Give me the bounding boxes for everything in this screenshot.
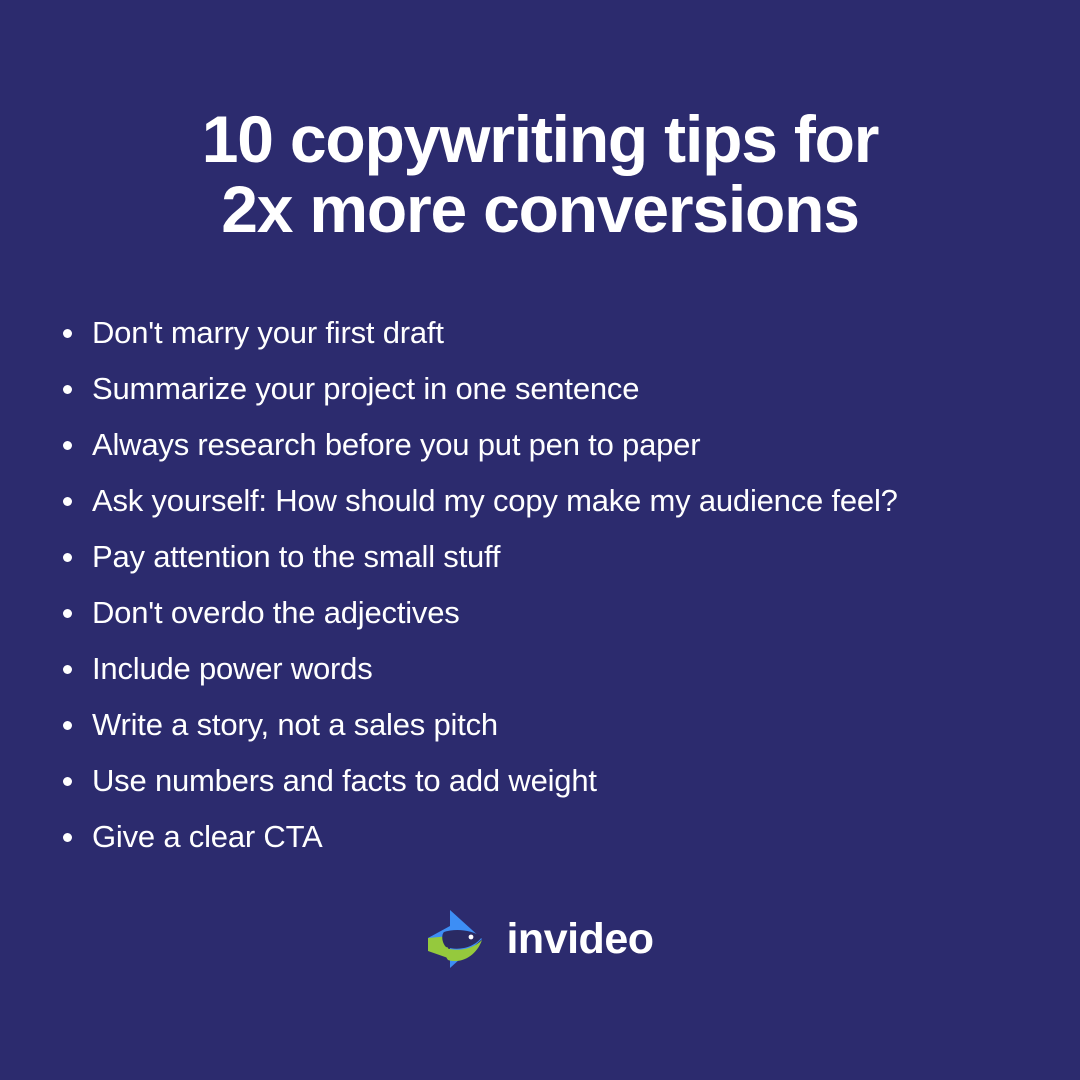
list-item: Always research before you put pen to pa… xyxy=(58,417,1040,473)
list-item: Summarize your project in one sentence xyxy=(58,361,1040,417)
poster-canvas: 10 copywriting tips for 2x more conversi… xyxy=(0,0,1080,1080)
bullet-dot-icon xyxy=(63,833,72,842)
list-item: Use numbers and facts to add weight xyxy=(58,753,1040,809)
tip-text: Don't marry your first draft xyxy=(92,315,444,351)
list-item: Pay attention to the small stuff xyxy=(58,529,1040,585)
bullet-dot-icon xyxy=(63,441,72,450)
tip-text: Always research before you put pen to pa… xyxy=(92,427,700,463)
tips-list: Don't marry your first draft Summarize y… xyxy=(58,305,1040,865)
list-item: Don't overdo the adjectives xyxy=(58,585,1040,641)
list-item: Give a clear CTA xyxy=(58,809,1040,865)
bullet-dot-icon xyxy=(63,665,72,674)
list-item: Ask yourself: How should my copy make my… xyxy=(58,473,1040,529)
page-title: 10 copywriting tips for 2x more conversi… xyxy=(0,104,1080,244)
tip-text: Use numbers and facts to add weight xyxy=(92,763,597,799)
bullet-dot-icon xyxy=(63,329,72,338)
tip-text: Summarize your project in one sentence xyxy=(92,371,639,407)
title-line-1: 10 copywriting tips for xyxy=(60,104,1020,174)
invideo-play-mark-icon xyxy=(426,904,488,974)
bullet-dot-icon xyxy=(63,385,72,394)
title-line-2: 2x more conversions xyxy=(60,174,1020,244)
brand-logo: invideo xyxy=(0,898,1080,980)
tip-text: Write a story, not a sales pitch xyxy=(92,707,498,743)
list-item: Write a story, not a sales pitch xyxy=(58,697,1040,753)
bullet-dot-icon xyxy=(63,609,72,618)
list-item: Don't marry your first draft xyxy=(58,305,1040,361)
brand-wordmark: invideo xyxy=(506,918,653,961)
tip-text: Ask yourself: How should my copy make my… xyxy=(92,483,898,519)
list-item: Include power words xyxy=(58,641,1040,697)
bullet-dot-icon xyxy=(63,553,72,562)
tip-text: Don't overdo the adjectives xyxy=(92,595,460,631)
bullet-dot-icon xyxy=(63,497,72,506)
tip-text: Include power words xyxy=(92,651,373,687)
bullet-dot-icon xyxy=(63,777,72,786)
bullet-dot-icon xyxy=(63,721,72,730)
tip-text: Pay attention to the small stuff xyxy=(92,539,500,575)
tip-text: Give a clear CTA xyxy=(92,819,323,855)
